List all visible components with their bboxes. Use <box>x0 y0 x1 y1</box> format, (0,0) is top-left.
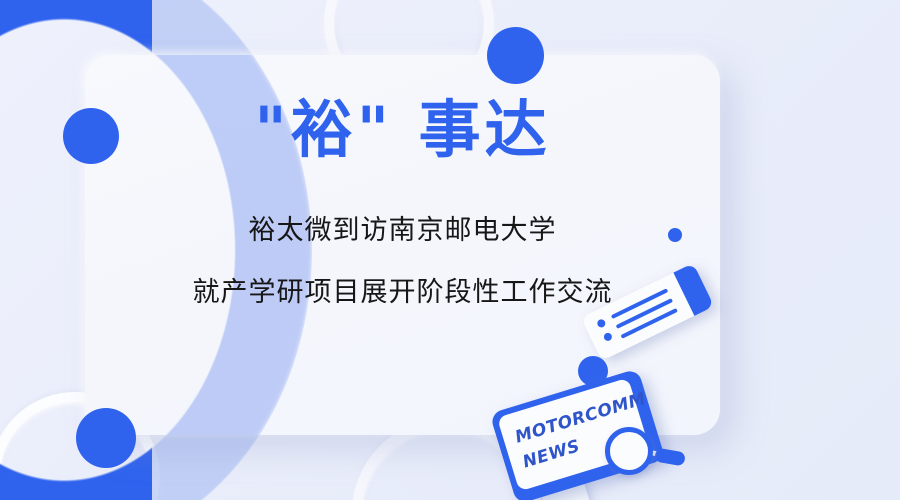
page-title: "裕" 事达 <box>254 97 550 162</box>
magnifier-lens <box>605 427 653 475</box>
magnifier-icon <box>605 427 683 479</box>
subtitle-line-2: 就产学研项目展开阶段性工作交流 <box>193 270 613 309</box>
ticket-bullet-1 <box>596 318 607 329</box>
subtitle-line-1: 裕太微到访南京邮电大学 <box>249 208 557 247</box>
ticket-bullet-2 <box>603 332 614 343</box>
banner-stage: "裕" 事达 裕太微到访南京邮电大学 就产学研项目展开阶段性工作交流 MOTOR… <box>0 0 900 500</box>
magnifier-handle <box>654 448 686 467</box>
megaphone-news-icon: MOTORCOMM NEWS <box>495 385 675 500</box>
